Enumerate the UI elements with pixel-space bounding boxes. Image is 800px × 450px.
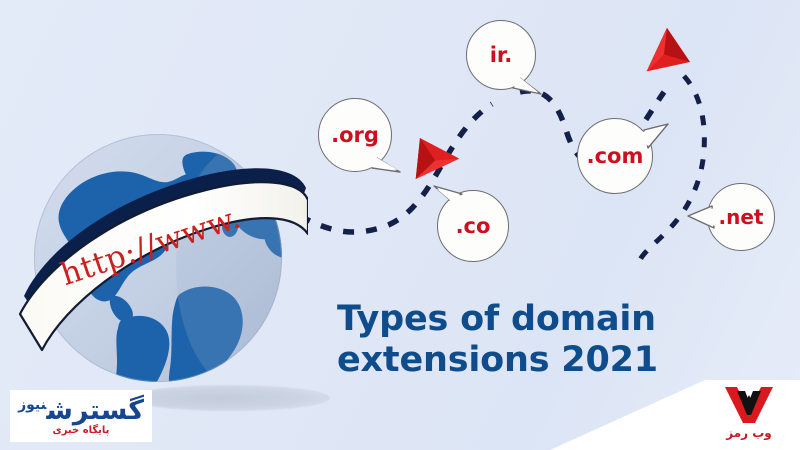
page-title-line-2: extensions 2021 (337, 340, 707, 381)
webramz-logo[interactable]: وب رمز (714, 382, 784, 440)
webramz-mark-icon (721, 385, 777, 425)
bubble-net-tail (0, 0, 800, 450)
page-title-line-1: Types of domain (337, 299, 656, 339)
logo-left-sub-text: پایگاه خبری (53, 426, 110, 436)
logo-left-main: گسترشنیوز (18, 397, 144, 424)
logo-left-suffix-text: نیوز (18, 397, 46, 413)
page-title: Types of domain extensions 2021 (337, 299, 707, 380)
poster-canvas: http://www. .org ir. .co .com .net T (0, 0, 800, 450)
gostaresh-news-logo[interactable]: گسترشنیوز پایگاه خبری (10, 390, 152, 442)
webramz-label: وب رمز (726, 426, 772, 440)
logo-left-main-text: گسترش (46, 395, 144, 426)
